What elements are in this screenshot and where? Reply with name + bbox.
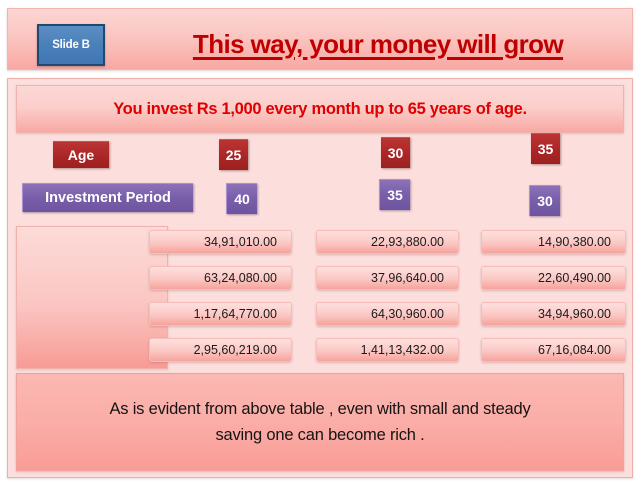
rate-column bbox=[16, 226, 168, 369]
subtitle-text: You invest Rs 1,000 every month up to 65… bbox=[113, 100, 527, 119]
age-badge-col1: 25 bbox=[219, 139, 248, 170]
footer-note-line1: As is evident from above table , even wi… bbox=[109, 396, 530, 422]
table-cell: 67,16,084.00 bbox=[481, 338, 626, 362]
table-cell: 2,95,60,219.00 bbox=[149, 338, 292, 362]
table-cell: 34,91,010.00 bbox=[149, 230, 292, 254]
period-badge-col3: 30 bbox=[529, 185, 560, 216]
age-badge-col3: 35 bbox=[531, 133, 560, 164]
period-badge-col1: 40 bbox=[226, 183, 257, 214]
table-cell: 1,41,13,432.00 bbox=[316, 338, 459, 362]
subtitle-strip: You invest Rs 1,000 every month up to 65… bbox=[16, 85, 624, 133]
age-header-row: Age 25 30 35 bbox=[8, 141, 632, 173]
investment-period-label-badge: Investment Period bbox=[22, 183, 193, 212]
table-cell: 22,60,490.00 bbox=[481, 266, 626, 290]
period-badge-col2: 35 bbox=[379, 179, 410, 210]
title-panel: Slide B This way, your money will grow bbox=[7, 8, 633, 70]
table-cell: 64,30,960.00 bbox=[316, 302, 459, 326]
table-cell: 14,90,380.00 bbox=[481, 230, 626, 254]
footer-note-panel: As is evident from above table , even wi… bbox=[16, 373, 624, 471]
footer-note-line2: saving one can become rich . bbox=[215, 422, 424, 448]
slide-badge: Slide B bbox=[37, 24, 105, 66]
body-panel: You invest Rs 1,000 every month up to 65… bbox=[7, 78, 633, 478]
returns-table: 08% 10% 12% 15% 34,91,010.00 22,93,880.0… bbox=[16, 224, 624, 369]
investment-period-header-row: Investment Period 40 35 30 bbox=[8, 181, 632, 215]
table-cell: 34,94,960.00 bbox=[481, 302, 626, 326]
table-cell: 1,17,64,770.00 bbox=[149, 302, 292, 326]
age-badge-col2: 30 bbox=[381, 137, 410, 168]
table-cell: 37,96,640.00 bbox=[316, 266, 459, 290]
age-label-badge: Age bbox=[53, 141, 109, 168]
table-cell: 63,24,080.00 bbox=[149, 266, 292, 290]
table-cell: 22,93,880.00 bbox=[316, 230, 459, 254]
page-title: This way, your money will grow bbox=[138, 21, 618, 67]
